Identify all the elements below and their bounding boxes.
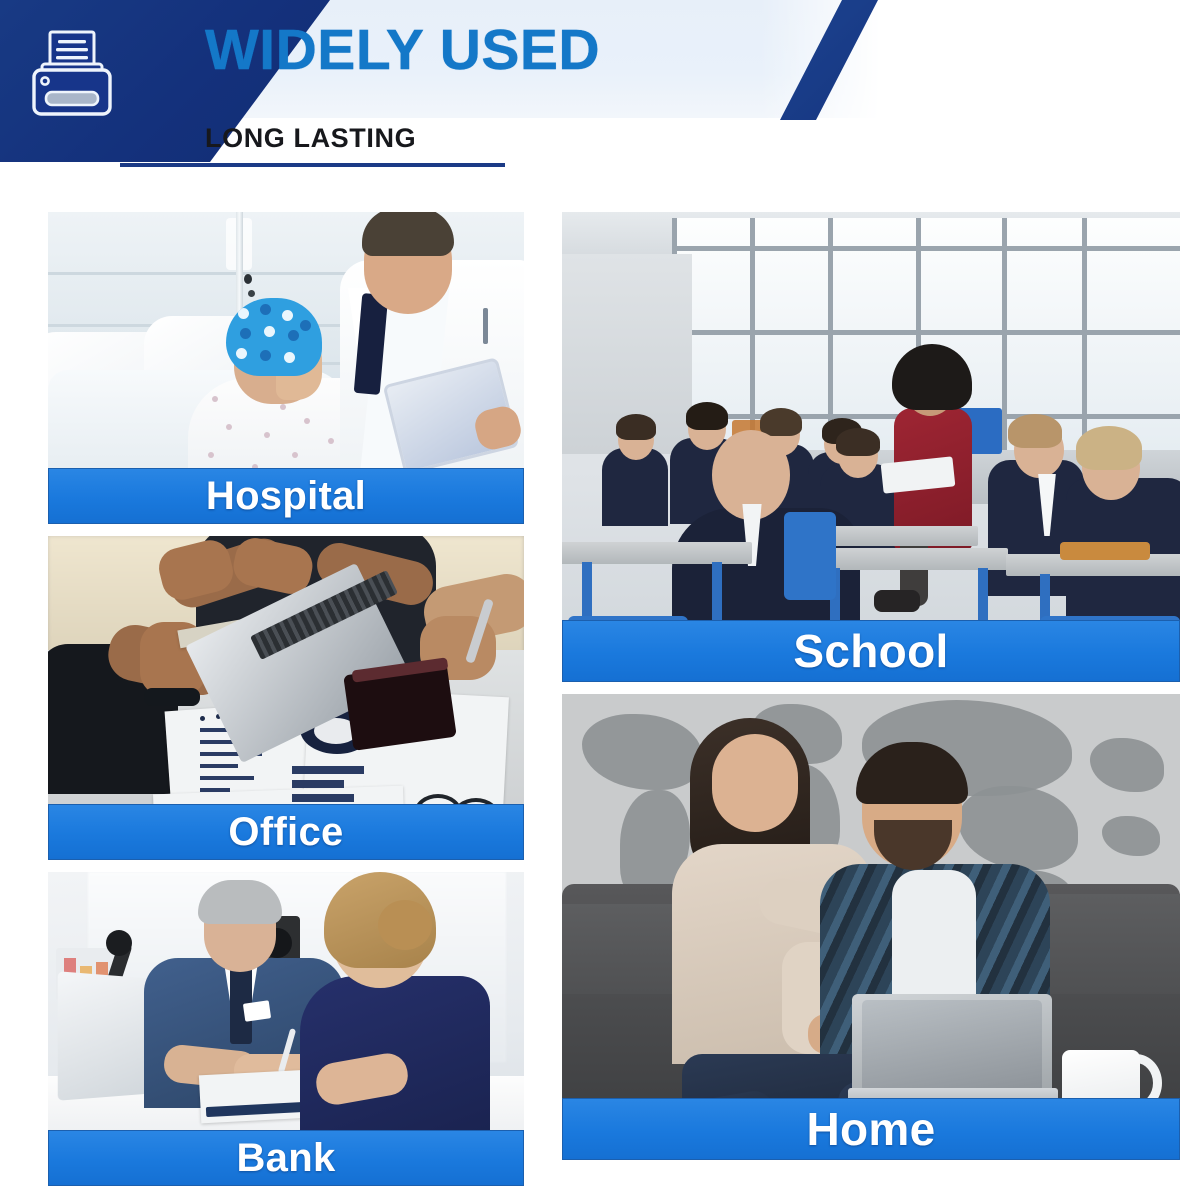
caption-bank: Bank (48, 1130, 524, 1186)
panel-home[interactable]: Home (562, 694, 1180, 1160)
caption-office-label: Office (228, 812, 343, 852)
header-banner: WIDELY USED LONG LASTING (0, 0, 1200, 178)
panel-office[interactable]: Office (48, 536, 524, 860)
panel-school[interactable]: School (562, 212, 1180, 682)
school-photo (562, 212, 1180, 682)
caption-hospital-label: Hospital (206, 476, 366, 516)
left-column: Hospital (48, 212, 524, 1198)
header-subtitle: LONG LASTING (205, 125, 416, 152)
right-column: School (562, 212, 1180, 1172)
panel-bank[interactable]: Bank (48, 872, 524, 1186)
caption-home: Home (562, 1098, 1180, 1160)
caption-office: Office (48, 804, 524, 860)
printer-icon (22, 28, 122, 126)
caption-school: School (562, 620, 1180, 682)
caption-home-label: Home (806, 1106, 935, 1152)
caption-school-label: School (793, 628, 948, 674)
header-divider-rule (120, 163, 505, 167)
caption-bank-label: Bank (236, 1138, 335, 1178)
caption-hospital: Hospital (48, 468, 524, 524)
header-title: WIDELY USED (205, 22, 600, 79)
panel-grid: Hospital (0, 178, 1200, 1200)
home-photo (562, 694, 1180, 1160)
panel-hospital[interactable]: Hospital (48, 212, 524, 524)
